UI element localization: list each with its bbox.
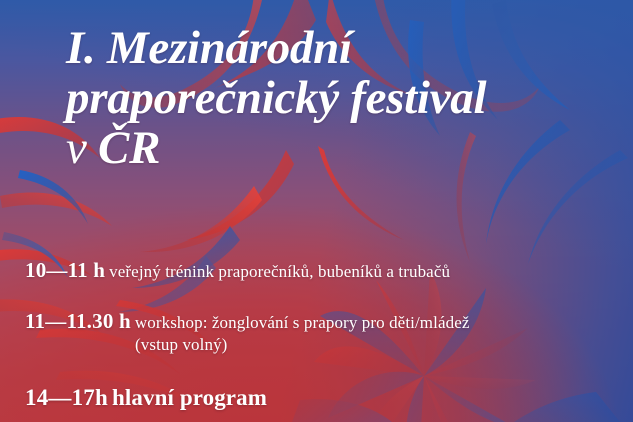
schedule-list: 10—11 h veřejný trénink praporečníků, bu… bbox=[25, 258, 625, 422]
schedule-item-3-description: hlavní program bbox=[112, 385, 267, 410]
schedule-item-1-description: veřejný trénink praporečníků, bubeníků a… bbox=[109, 262, 450, 281]
poster-canvas: I. Mezinárodní praporečnický festival v … bbox=[0, 0, 633, 422]
title-line-3-prefix: v bbox=[66, 122, 98, 174]
schedule-item-3: 14—17h hlavní program bbox=[25, 385, 625, 411]
schedule-item-3-time: 14—17h bbox=[25, 385, 108, 410]
schedule-item-2: 11—11.30 h workshop: žonglování s prapor… bbox=[25, 309, 625, 355]
schedule-item-1: 10—11 h veřejný trénink praporečníků, bu… bbox=[25, 258, 625, 283]
schedule-item-2-time: 11—11.30 h bbox=[25, 309, 131, 333]
poster-title: I. Mezinárodní praporečnický festival v … bbox=[66, 24, 626, 173]
title-line-2: praporečnický festival bbox=[66, 74, 626, 124]
schedule-item-2-note: (vstup volný) bbox=[25, 335, 625, 355]
schedule-item-1-time: 10—11 h bbox=[25, 258, 105, 282]
schedule-item-2-description: workshop: žonglování s prapory pro děti/… bbox=[135, 313, 470, 332]
title-line-3: v ČR bbox=[66, 124, 626, 174]
title-line-1: I. Mezinárodní bbox=[66, 24, 626, 74]
title-line-3-main: ČR bbox=[98, 122, 160, 174]
